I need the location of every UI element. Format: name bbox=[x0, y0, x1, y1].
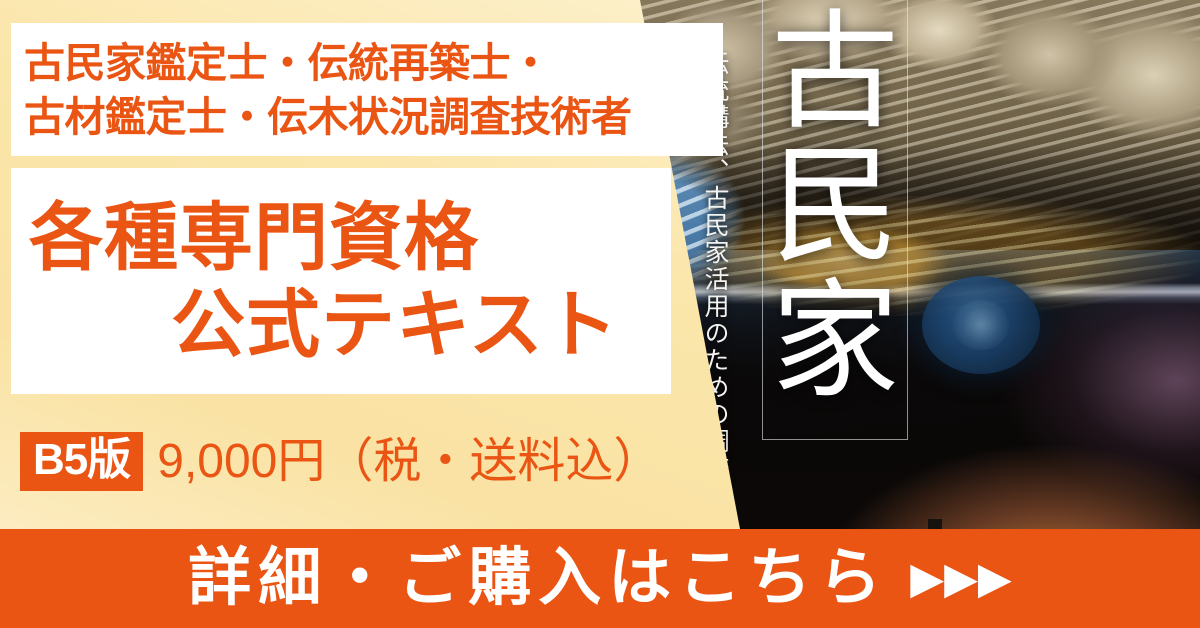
headline-line-2: 公式テキスト bbox=[11, 281, 671, 368]
qualifications-line-2: 古材鑑定士・伝木状況調査技術者 bbox=[24, 90, 723, 144]
qualifications-text: 古民家鑑定士・伝統再築士・ 古材鑑定士・伝木状況調査技術者 bbox=[18, 26, 723, 154]
cta-label: 詳細・ご購入はこちら bbox=[188, 547, 888, 610]
qualifications-line-1: 古民家鑑定士・伝統再築士・ bbox=[24, 36, 723, 90]
cover-title-char-3: 家 bbox=[766, 275, 904, 409]
blue-medallion bbox=[922, 276, 1040, 374]
cover-title-char-1: 古 bbox=[766, 6, 904, 140]
size-badge: B5版 bbox=[20, 432, 143, 491]
cover-title-char-2: 民 bbox=[766, 140, 904, 274]
price-row: B5版 9,000円（税・送料込） bbox=[20, 432, 661, 491]
cta-bar[interactable]: 詳細・ご購入はこちら ▶▶▶ bbox=[0, 529, 1200, 628]
cta-text: 詳細・ご購入はこちら ▶▶▶ bbox=[188, 547, 1012, 610]
promo-banner: 古 民 家 伝統構法、古民家活用のための調査と再生の 古民家鑑定士・伝統再築士・… bbox=[0, 0, 1200, 628]
headline-line-1: 各種専門資格 bbox=[11, 194, 671, 281]
cover-title-vertical: 古 民 家 bbox=[766, 6, 904, 409]
chevron-right-icon: ▶▶▶ bbox=[910, 557, 1012, 601]
headline-text: 各種専門資格 公式テキスト bbox=[11, 170, 671, 392]
price-label: 9,000円（税・送料込） bbox=[157, 438, 661, 486]
cta-notch bbox=[928, 519, 942, 529]
